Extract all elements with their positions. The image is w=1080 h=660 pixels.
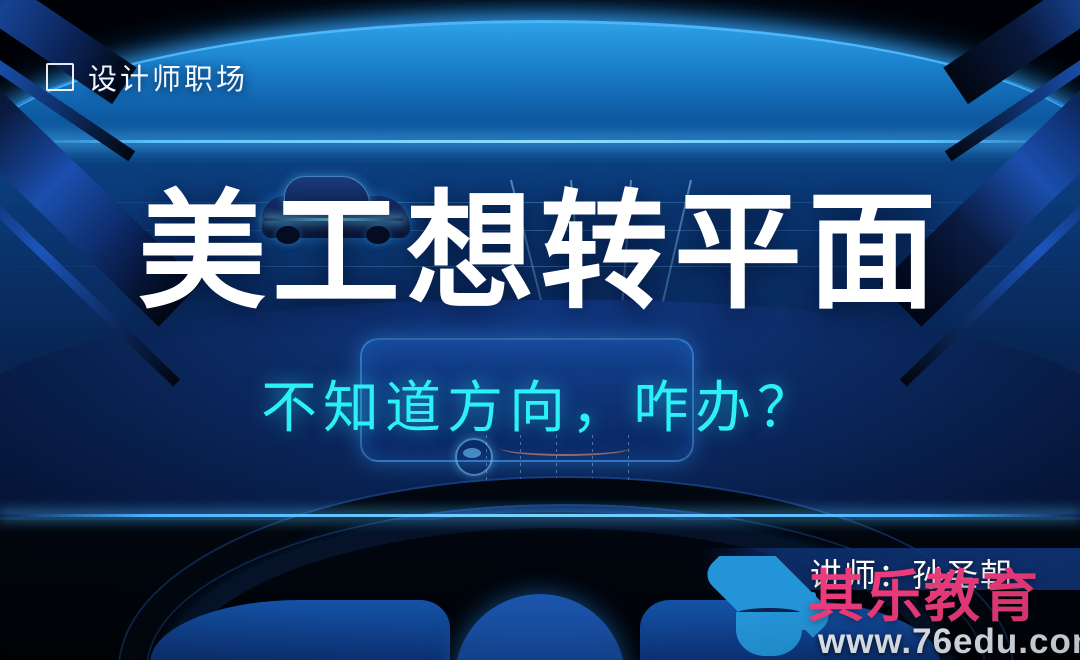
cover-stage: 设计师职场 美工想转平面 不知道方向，咋办？ 讲师：孙圣朝 其乐教育 www.7… <box>0 0 1080 660</box>
square-outline-icon <box>46 63 74 91</box>
kicker-label: 设计师职场 <box>88 56 248 98</box>
page-title: 美工想转平面 <box>0 186 1080 320</box>
brand-logo: 其乐教育 www.76edu.com <box>700 548 1080 660</box>
brand-url: www.76edu.com <box>818 622 1080 660</box>
brand-name: 其乐教育 <box>808 552 1040 633</box>
kicker: 设计师职场 <box>46 56 248 98</box>
dashboard-edge-glow <box>0 514 1080 517</box>
page-subtitle: 不知道方向，咋办？ <box>0 363 1080 444</box>
